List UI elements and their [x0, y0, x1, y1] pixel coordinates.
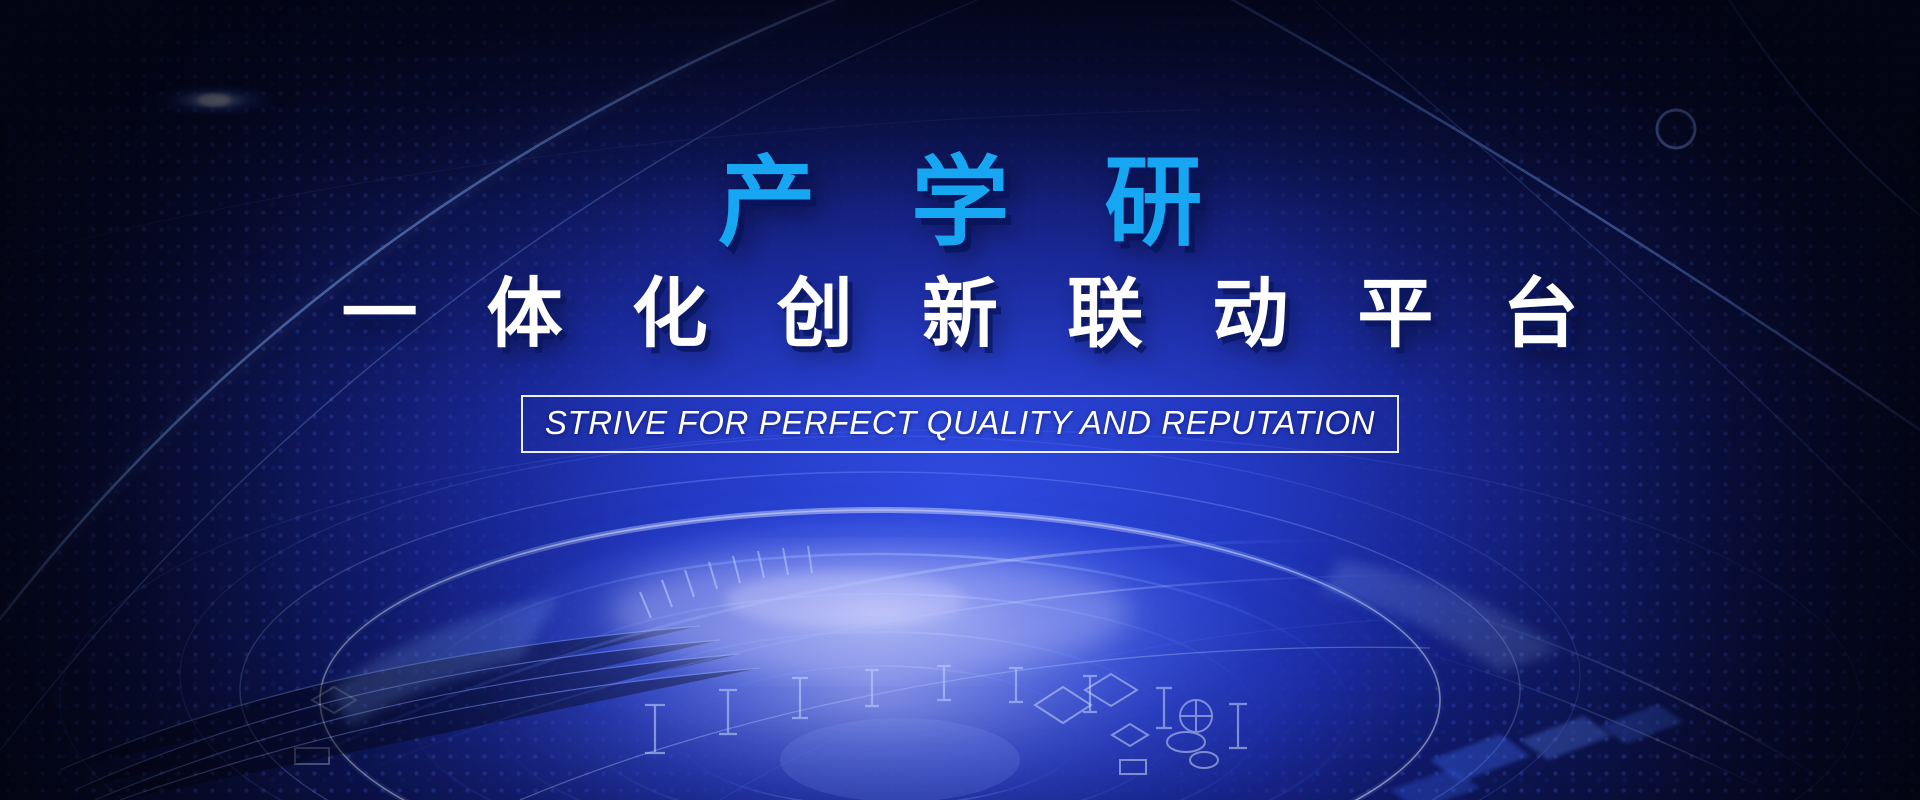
page-title: 产 学 研 — [684, 150, 1236, 256]
banner-content: 产 学 研 一 体 化 创 新 联 动 平 台 STRIVE FOR PERFE… — [0, 0, 1920, 800]
page-subtitle: 一 体 化 创 新 联 动 平 台 — [318, 272, 1603, 357]
tagline-text: STRIVE FOR PERFECT QUALITY AND REPUTATIO… — [545, 404, 1375, 442]
promotional-banner: 产 学 研 一 体 化 创 新 联 动 平 台 STRIVE FOR PERFE… — [0, 0, 1920, 800]
tagline-box: STRIVE FOR PERFECT QUALITY AND REPUTATIO… — [521, 395, 1399, 453]
